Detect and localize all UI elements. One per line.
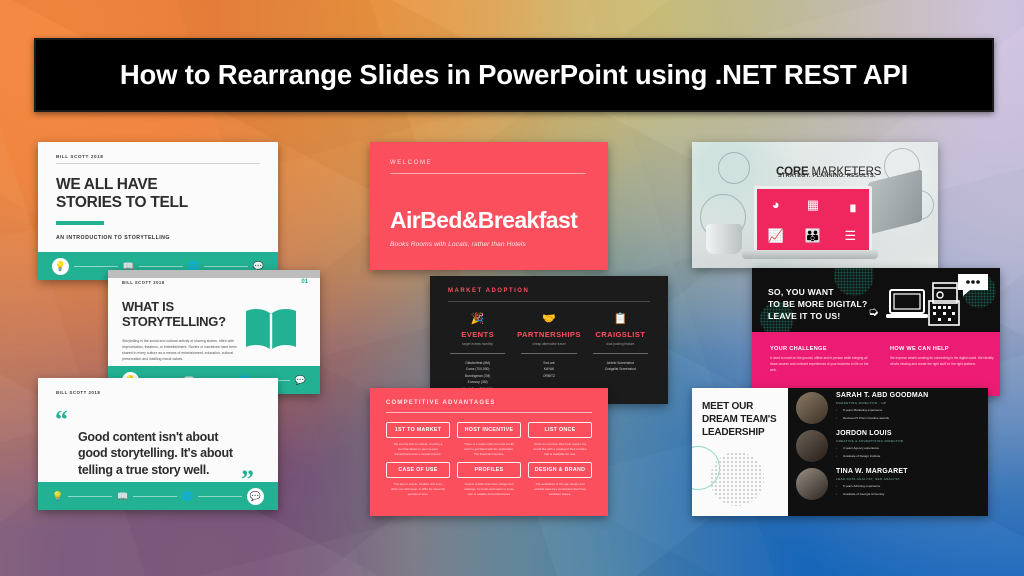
- slide-top-bar: [108, 270, 320, 278]
- market-column-partnerships: 🤝 PARTNERSHIPS cheap alternative travel …: [513, 314, 584, 392]
- lightbulb-icon: 💡: [52, 258, 69, 275]
- slide-airbed-title[interactable]: WELCOME AirBed&Breakfast Books Rooms wit…: [370, 142, 608, 270]
- divider: [521, 353, 576, 354]
- divider: [139, 266, 183, 267]
- slide-header-label: MARKET ADOPTION: [448, 288, 668, 294]
- accent-bar: [56, 221, 104, 225]
- divider: [68, 496, 112, 497]
- advantage-label: PROFILES: [457, 462, 521, 478]
- slide-core-marketers[interactable]: CORE MARKETERS STRATEGY. PLANNING. RESUL…: [692, 142, 938, 268]
- avatar: [796, 430, 828, 462]
- column-items: Sxd.are KAYAK ORBITZ: [513, 360, 584, 379]
- list-icon: 📋: [585, 314, 656, 325]
- slide-eyebrow: WELCOME: [390, 160, 608, 166]
- advantage-grid: 1ST TO MARKET We are the first to market…: [370, 413, 608, 498]
- list-item: JORDON LOUIS CREATIVE & ADVERTISING DIRE…: [796, 430, 980, 462]
- member-role: LEAD DATA ANALYST, SEO ANALYST: [836, 477, 908, 481]
- column-title: EVENTS: [442, 330, 513, 339]
- advantage-cell: 1ST TO MARKET We are the first to market…: [386, 422, 450, 457]
- column-items: Airbnb Screenshot Craigslist Screenshot: [585, 360, 656, 373]
- slide-subtitle: AN INTRODUCTION TO STORYTELLING: [56, 235, 278, 241]
- advantage-text: We are the first to market, creating a t…: [386, 442, 450, 457]
- advantage-label: HOST INCENTIVE: [457, 422, 521, 438]
- member-bullet: •Graduate of Design Institute: [836, 454, 903, 459]
- member-bullet: •4 years Agency experience: [836, 446, 903, 451]
- avatar: [796, 468, 828, 500]
- slide-quote[interactable]: BILL SCOTT 2018 “ Good content isn't abo…: [38, 378, 278, 510]
- member-info: JORDON LOUIS CREATIVE & ADVERTISING DIRE…: [836, 430, 903, 460]
- member-role: CREATIVE & ADVERTISING DIRECTOR: [836, 439, 903, 443]
- slide-header-label: BILL SCOTT 2018: [56, 154, 278, 159]
- slide-heading: MEET OUR DREAM TEAM'S LEADERSHIP: [702, 400, 788, 439]
- slide-header-label: COMPETITIVE ADVANTAGES: [386, 400, 608, 406]
- slide-competitive-advantages[interactable]: COMPETITIVE ADVANTAGES 1ST TO MARKET We …: [370, 388, 608, 516]
- slide-footer-strip: 💡 📖 🌐 💬: [38, 482, 278, 510]
- qr-code-icon: [928, 300, 960, 331]
- column-caption: target events monthly: [442, 342, 513, 346]
- member-bullet: •5 years Advising experience: [836, 484, 908, 489]
- slide-leadership[interactable]: MEET OUR DREAM TEAM'S LEADERSHIP SARAH T…: [692, 388, 988, 516]
- advantage-label: CASE OF USE: [386, 462, 450, 478]
- advantage-cell: CASE OF USE The app is simple, intuitive…: [386, 462, 450, 497]
- market-column-craigslist: 📋 CRAIGSLIST dual posting feature Airbnb…: [585, 314, 656, 392]
- heading-line-3: LEAVE IT TO US!: [768, 311, 840, 321]
- panel-how-we-can-help: HOW WE CAN HELP We improve what's workin…: [890, 346, 994, 368]
- avatar: [796, 392, 828, 424]
- open-quote-icon: “: [55, 412, 68, 428]
- divider: [74, 266, 118, 267]
- chat-bubble-icon: [956, 272, 990, 303]
- mug-prop: [706, 224, 742, 254]
- slide-header-label: BILL SCOTT 2018: [56, 390, 278, 395]
- panel-text: A need to excel on the ground, offline a…: [770, 356, 874, 374]
- quote-line-3: telling a true story well.: [78, 463, 209, 477]
- slide-go-digital[interactable]: SO, YOU WANT TO BE MORE DIGITAL? LEAVE I…: [752, 268, 1000, 396]
- heading-line-2: STORIES TO TELL: [56, 194, 188, 211]
- advantage-text: The aesthetics of the app design and web…: [528, 482, 592, 497]
- market-column-events: 🎉 EVENTS target events monthly Oktoberfe…: [442, 314, 513, 392]
- heading-line-1: WHAT IS: [122, 299, 174, 314]
- heading-line-1: MEET OUR: [702, 401, 753, 412]
- lightbulb-icon: 💡: [52, 492, 63, 501]
- column-caption: cheap alternative travel: [513, 342, 584, 346]
- advantage-cell: DESIGN & BRAND The aesthetics of the app…: [528, 462, 592, 497]
- member-role: MARKETING DIRECTOR - HP: [836, 401, 928, 405]
- advantage-label: LIST ONCE: [528, 422, 592, 438]
- divider: [133, 496, 177, 497]
- slide-heading: SO, YOU WANT TO BE MORE DIGITAL? LEAVE I…: [768, 286, 867, 323]
- open-book-icon: [242, 306, 300, 359]
- quote-text: Good content isn't about good storytelli…: [78, 429, 260, 478]
- list-item: Craigslist Screenshot: [585, 366, 656, 372]
- market-adoption-columns: 🎉 EVENTS target events monthly Oktoberfe…: [430, 314, 668, 392]
- leadership-member-list: SARAH T. ABD GOODMAN MARKETING DIRECTOR …: [796, 392, 980, 506]
- panel-your-challenge: YOUR CHALLENGE A need to excel on the gr…: [770, 346, 874, 374]
- member-name: SARAH T. ABD GOODMAN: [836, 392, 928, 399]
- divider: [56, 163, 260, 164]
- panel-title: HOW WE CAN HELP: [890, 346, 994, 352]
- slide-market-adoption[interactable]: MARKET ADOPTION 🎉 EVENTS target events m…: [430, 276, 668, 404]
- slide-number: 01: [301, 279, 308, 285]
- member-name: TINA W. MARGARET: [836, 468, 908, 475]
- advantage-text: Hosts do not have their host require but…: [528, 442, 592, 457]
- go-digital-pink-panel: YOUR CHALLENGE A need to excel on the gr…: [752, 332, 1000, 396]
- advantage-text: There is a reason why the host would wan…: [457, 442, 521, 457]
- laptop-base: [742, 250, 878, 259]
- advantage-cell: HOST INCENTIVE There is a reason why the…: [457, 422, 521, 457]
- decorative-circle: [718, 152, 750, 184]
- heading-line-2: DREAM TEAM'S: [702, 414, 776, 425]
- quote-line-1: Good content isn't about: [78, 430, 218, 444]
- slide-we-all-have-stories[interactable]: BILL SCOTT 2018 WE ALL HAVE STORIES TO T…: [38, 142, 278, 280]
- panel-text: We improve what's working for connecting…: [890, 356, 994, 368]
- people-icon: 👪: [805, 229, 821, 242]
- column-title: PARTNERSHIPS: [513, 330, 584, 339]
- list-item: SARAH T. ABD GOODMAN MARKETING DIRECTOR …: [796, 392, 980, 424]
- heading-line-1: SO, YOU WANT: [768, 287, 834, 297]
- globe-icon: 🌐: [182, 492, 193, 501]
- advantage-text: Guests profiles that have ratings and ra…: [457, 482, 521, 497]
- heading-line-1: WE ALL HAVE: [56, 176, 157, 193]
- events-icon: 🎉: [442, 314, 513, 325]
- slide-heading: WHAT IS STORYTELLING?: [122, 300, 242, 330]
- cursor-icon: ➭: [868, 304, 879, 320]
- member-bullet: •Recieved 5 Prism Creative awards: [836, 416, 928, 421]
- member-info: SARAH T. ABD GOODMAN MARKETING DIRECTOR …: [836, 392, 928, 422]
- slide-body-text: Storytelling is the social and cultural …: [122, 338, 240, 363]
- list-item: ORBITZ: [513, 373, 584, 379]
- decorative-dot-circle: [710, 452, 764, 506]
- slide-tagline: STRATEGY. PLANNING. RESULTS.: [778, 173, 876, 179]
- leadership-left-panel: MEET OUR DREAM TEAM'S LEADERSHIP: [692, 388, 788, 516]
- advantage-label: 1ST TO MARKET: [386, 422, 450, 438]
- pie-chart-icon: ◕: [772, 198, 780, 211]
- book-icon: 📖: [117, 492, 128, 501]
- title-banner: How to Rearrange Slides in PowerPoint us…: [34, 38, 994, 112]
- checklist-icon: ☰: [844, 229, 856, 242]
- slide-header-label: BILL SCOTT 2018: [122, 280, 165, 285]
- layout-icon: ▦: [807, 198, 819, 211]
- heading-line-2: STORYTELLING?: [122, 314, 226, 329]
- divider: [204, 266, 248, 267]
- member-bullet: •Graduate of Georgia University: [836, 492, 908, 497]
- member-name: JORDON LOUIS: [836, 430, 903, 437]
- heading-line-3: LEADERSHIP: [702, 427, 764, 438]
- panel-title: YOUR CHALLENGE: [770, 346, 874, 352]
- member-info: TINA W. MARGARET LEAD DATA ANALYST, SEO …: [836, 468, 908, 498]
- panel-title-a: YOUR: [770, 346, 787, 352]
- divider: [450, 353, 505, 354]
- member-bullet: •8 years Marketing experience: [836, 408, 928, 413]
- slide-heading: WE ALL HAVE STORIES TO TELL: [56, 176, 278, 212]
- slide-subtitle: Books Rooms with Locals, rather than Hot…: [390, 241, 608, 248]
- advantage-cell: LIST ONCE Hosts do not have their host r…: [528, 422, 592, 457]
- laptop-screen: ◕ ▦ ▗ 📈 👪 ☰: [754, 186, 872, 254]
- divider: [593, 353, 648, 354]
- heading-line-2: TO BE MORE DIGITAL?: [768, 299, 867, 309]
- go-digital-top-panel: SO, YOU WANT TO BE MORE DIGITAL? LEAVE I…: [752, 268, 1000, 332]
- column-caption: dual posting feature: [585, 342, 656, 346]
- quote-line-2: good storytelling. It's about: [78, 446, 233, 460]
- bar-chart-icon: ▗: [845, 198, 855, 211]
- speech-bubble-icon: 💬: [247, 488, 264, 505]
- panel-title-b: CHALLENGE: [789, 346, 827, 352]
- advantage-text: The app is simple, intuitive and even wh…: [386, 482, 450, 497]
- laptop-icon: [886, 288, 928, 325]
- divider: [390, 173, 586, 174]
- column-title: CRAIGSLIST: [585, 330, 656, 339]
- speech-bubble-icon: 💬: [295, 376, 306, 385]
- advantage-label: DESIGN & BRAND: [528, 462, 592, 478]
- handshake-icon: 🤝: [513, 314, 584, 325]
- slide-what-is-storytelling[interactable]: BILL SCOTT 2018 01 WHAT IS STORYTELLING?…: [108, 270, 320, 394]
- divider: [448, 301, 650, 302]
- screenshot-canvas: How to Rearrange Slides in PowerPoint us…: [0, 0, 1024, 576]
- divider: [198, 496, 242, 497]
- growth-chart-icon: 📈: [768, 229, 784, 242]
- advantage-cell: PROFILES Guests profiles that have ratin…: [457, 462, 521, 497]
- slide-heading: AirBed&Breakfast: [390, 207, 608, 234]
- page-title: How to Rearrange Slides in PowerPoint us…: [120, 59, 908, 91]
- list-item: TINA W. MARGARET LEAD DATA ANALYST, SEO …: [796, 468, 980, 500]
